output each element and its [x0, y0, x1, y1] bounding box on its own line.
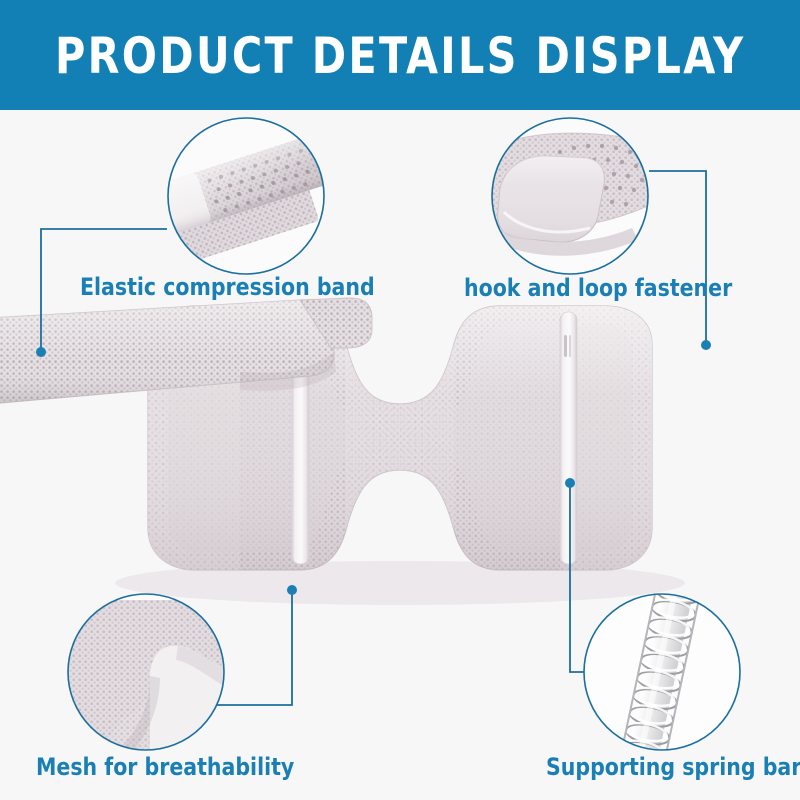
- callout-label-mesh-for-breathability: Mesh for breathability: [36, 755, 294, 779]
- anchor-dot-mesh-for-breathability: [287, 585, 297, 595]
- anchor-dot-hook-and-loop-fastener: [701, 340, 711, 350]
- callout-label-elastic-compression-band: Elastic compression band: [80, 275, 375, 299]
- callout-label-supporting-spring-bar: Supporting spring bar: [546, 755, 800, 779]
- product-scene: [0, 0, 800, 800]
- product-details-page: PRODUCT DETAILS DISPLAY: [0, 0, 800, 800]
- anchor-dot-supporting-spring-bar: [565, 478, 575, 488]
- anchor-dot-elastic-compression-band: [36, 347, 46, 357]
- callout-label-hook-and-loop-fastener: hook and loop fastener: [464, 276, 732, 300]
- elastic-strap: [0, 300, 336, 404]
- spring-bar-channel-right: [560, 312, 577, 564]
